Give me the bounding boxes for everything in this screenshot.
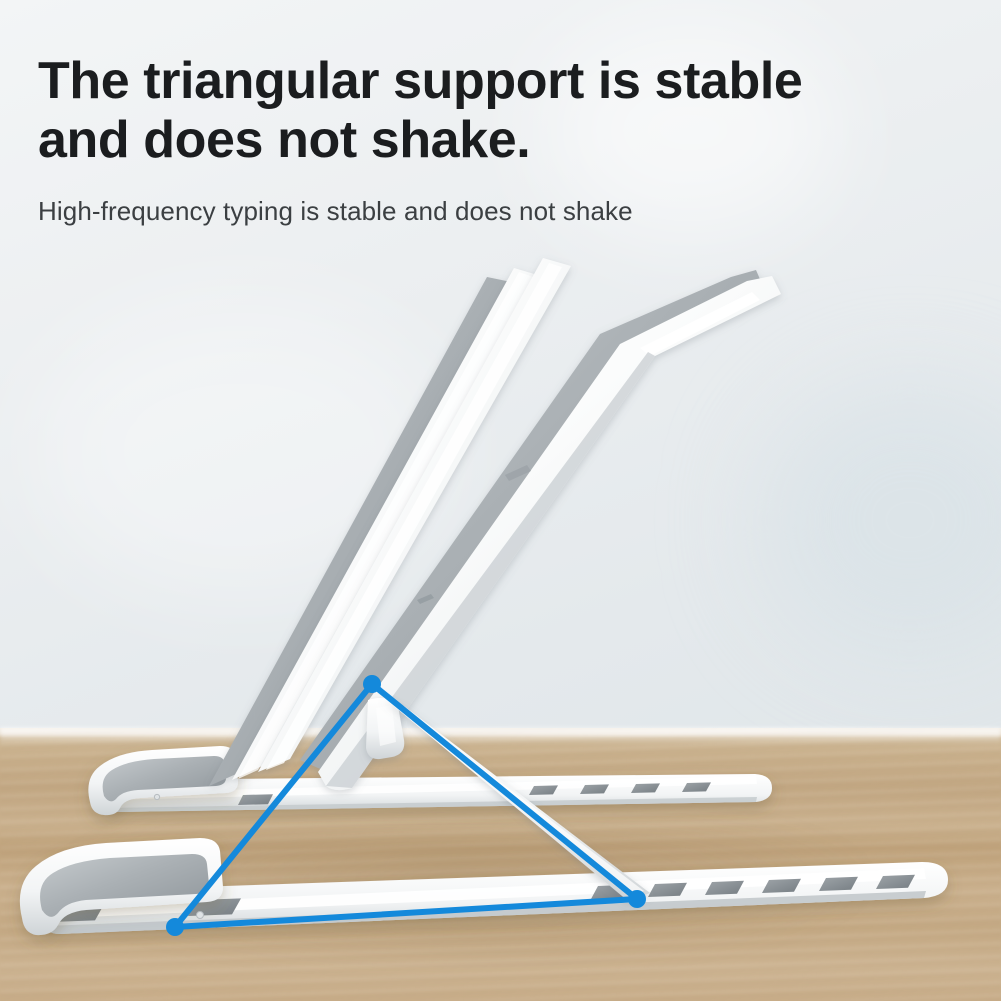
page-subtitle: High-frequency typing is stable and does… <box>38 196 918 227</box>
product-marketing-image: The triangular support is stable and doe… <box>0 0 1001 1001</box>
page-title: The triangular support is stable and doe… <box>38 52 918 170</box>
laptop-port-marks <box>417 465 531 604</box>
desk-front-edge-highlight <box>0 728 1001 744</box>
desk-contact-shadow <box>0 828 1001 1001</box>
stand-arm-notches <box>345 424 478 622</box>
marketing-copy: The triangular support is stable and doe… <box>38 52 918 227</box>
stand-middle-arm <box>232 268 541 780</box>
wooden-desk-surface <box>0 728 1001 1001</box>
triangle-vertex-apex <box>363 675 381 693</box>
stand-rear-arm-grey <box>209 277 516 786</box>
laptop-device <box>300 270 781 790</box>
wall-highlight-blob <box>30 300 450 600</box>
stand-front-arm <box>258 258 571 772</box>
wall-shade-blob <box>760 380 1001 660</box>
